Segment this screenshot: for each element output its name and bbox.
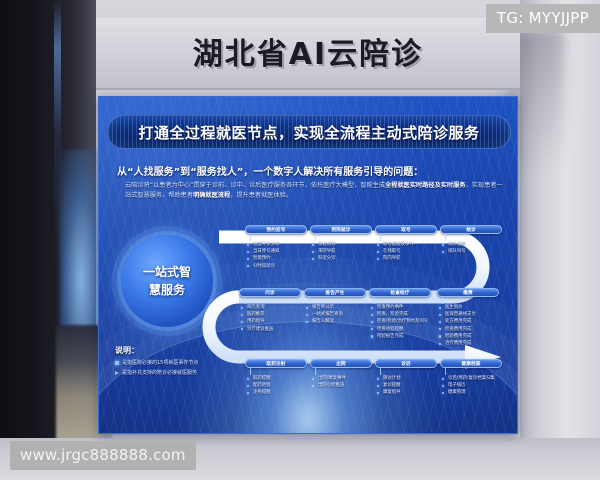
flow-node-chip: 预约挂号 bbox=[245, 225, 307, 234]
flow-node-items: 报告单公示 一站式报告查询 报告入解读 bbox=[306, 304, 366, 326]
flow-node-stem bbox=[250, 234, 251, 241]
flow-item: 检查进程提醒 bbox=[371, 326, 431, 333]
flow-node-chip: 诊后 bbox=[375, 359, 437, 368]
flow-node-stem bbox=[315, 234, 316, 241]
flow-node-row1-2: 取号 取号提醒及事件 在线取号 院内导航 bbox=[375, 225, 437, 263]
flow-item: 报告单公示 bbox=[306, 304, 366, 311]
flow-item: 患者报到 bbox=[312, 241, 372, 248]
flow-item: 处方费用完成 bbox=[439, 318, 499, 325]
flow-item: 复诊提醒 bbox=[377, 382, 437, 389]
flow-item: 一站式报告查询 bbox=[306, 311, 366, 318]
flow-node-row3-0: 取药注射 取药提醒 配药进程 注射提醒 bbox=[245, 359, 307, 397]
flow-node-chip: 到院就诊 bbox=[310, 225, 372, 234]
flow-node-stem bbox=[374, 297, 375, 304]
flow-node-stem bbox=[445, 368, 446, 375]
flow-node-items: 随访计划 复诊提醒 康复指导 bbox=[377, 375, 437, 397]
flow-item: 病历查询 bbox=[241, 304, 301, 311]
flow-node-row3-3: 健康档案 诊后/用药/复诊档案归集 电子病历 健康管理 bbox=[440, 359, 502, 397]
flow-item: 配药进程 bbox=[247, 382, 307, 389]
flow-node-items: 检查预约事件 检查、检验完成 检查/检验/治疗预约及叫号 检查进程提醒 检验报告… bbox=[371, 304, 431, 340]
flow-item: 检查/检验/治疗预约及叫号 bbox=[371, 318, 431, 325]
flow-item: 智慧导诊分诊 bbox=[247, 241, 307, 248]
flow-node-row3-2: 诊后 随访计划 复诊提醒 康复指导 bbox=[375, 359, 437, 397]
intro-body-part-1: 云陪诊将“以患者为中心”贯穿于诊前、诊中、诊后医疗服务各环节，依托医疗大模型，智… bbox=[125, 182, 385, 189]
flow-node-stem bbox=[442, 297, 443, 304]
flow-item: 医药推荐 bbox=[241, 311, 301, 318]
flow-node-row1-1: 到院就诊 患者报到 来院导航 科室分诊 bbox=[310, 225, 372, 263]
flow-item: 康复指导 bbox=[377, 389, 437, 396]
flow-node-chip: 候诊 bbox=[440, 225, 502, 234]
flow-node-chip: 缴费 bbox=[437, 288, 499, 297]
flow-item: 院内导航 bbox=[377, 255, 437, 262]
flow-item: 科室分诊 bbox=[312, 255, 372, 262]
flow-node-chip: 问诊 bbox=[239, 288, 301, 297]
led-poster-screen: 打通全过程就医节点，实现全流程主动式陪诊服务 从“人找服务”到“服务找人”，一个… bbox=[98, 96, 518, 434]
site-url-watermark: www.jrgc888888.com bbox=[10, 441, 196, 470]
flow-node-stem bbox=[244, 297, 245, 304]
flow-node-stem bbox=[380, 368, 381, 375]
flow-item: 取号提醒及事件 bbox=[377, 241, 437, 248]
badge-line-2: 慧服务 bbox=[149, 281, 185, 299]
booth-signage-band: 湖北省AI云陪诊 bbox=[96, 18, 520, 90]
flow-item: 当日停号通知 bbox=[247, 248, 307, 255]
poster-notes-block: 说明： 是指医院必接的15项就医事件节点 是指补充支持的陪诊必接就医服务 bbox=[115, 345, 247, 380]
flow-item: 排队叫号 bbox=[442, 248, 502, 255]
flow-item: 候诊提醒 bbox=[442, 241, 502, 248]
flow-node-stem bbox=[315, 368, 316, 375]
flow-item: 医保普通线支付 bbox=[439, 311, 499, 318]
flow-item: 出院/康复事件 bbox=[312, 375, 372, 382]
flow-node-row2-0: 问诊 病历查询 医药推荐 用药指导 诊疗建议推送 bbox=[239, 288, 301, 333]
notes-title: 说明： bbox=[115, 345, 247, 356]
flow-node-chip: 出院 bbox=[310, 359, 372, 368]
flow-item: 诊后/用药/复诊档案归集 bbox=[442, 375, 502, 382]
intro-body-part-3: ，提升患者就医体验。 bbox=[230, 192, 292, 199]
flow-node-row3-1: 出院 出院/康复事件 出院小结推送 bbox=[310, 359, 372, 389]
flow-node-chip: 报告产生 bbox=[304, 288, 366, 297]
flow-node-row1-3: 候诊 候诊提醒 排队叫号 bbox=[440, 225, 502, 255]
flow-item: 分时段就诊 bbox=[247, 263, 307, 270]
flow-item: 检验费用完成 bbox=[439, 333, 499, 340]
flow-node-items: 患者报到 来院导航 科室分诊 bbox=[312, 241, 372, 263]
flow-node-items: 取药提醒 配药进程 注射提醒 bbox=[247, 375, 307, 397]
flow-node-items: 智慧导诊分诊 当日停号通知 智能预约 分时段就诊 bbox=[247, 241, 307, 270]
flow-item: 检查预约事件 bbox=[371, 304, 431, 311]
poster-header-title: 打通全过程就医节点，实现全流程主动式陪诊服务 bbox=[108, 116, 510, 148]
intro-body-highlight-2: 明确就医流程 bbox=[193, 192, 230, 199]
note-item: 是指补充支持的陪诊必接就医服务 bbox=[115, 370, 247, 377]
poster-intro-lead: 从“人找服务”到“服务找人”，一个数字人解决所有服务引导的问题： bbox=[117, 163, 507, 178]
flow-node-stem bbox=[250, 368, 251, 375]
badge-line-1: 一站式智 bbox=[143, 263, 191, 281]
flow-item: 检查费用完成 bbox=[439, 326, 499, 333]
flow-node-items: 病历查询 医药推荐 用药指导 诊疗建议推送 bbox=[241, 304, 301, 333]
flow-node-chip: 取号 bbox=[375, 225, 437, 234]
flow-item: 报告入解读 bbox=[306, 318, 366, 325]
flow-node-chip: 取药注射 bbox=[245, 359, 307, 368]
flow-node-stem bbox=[445, 234, 446, 241]
flow-node-row2-2: 检查检疗 检查预约事件 检查、检验完成 检查/检验/治疗预约及叫号 检查进程提醒… bbox=[369, 288, 431, 340]
flow-node-items: 诊后/用药/复诊档案归集 电子病历 健康管理 bbox=[442, 375, 502, 397]
flow-item: 医生划价 bbox=[439, 304, 499, 311]
note-text: 是指补充支持的陪诊必接就医服务 bbox=[122, 370, 197, 377]
screenshot-root: 湖北省AI云陪诊 打通全过程就医节点，实现全流程主动式陪诊服务 从“人找服务”到… bbox=[0, 0, 600, 480]
square-marker-icon bbox=[115, 361, 119, 365]
flow-node-chip: 检查检疗 bbox=[369, 288, 431, 297]
flow-item: 诊疗建议推送 bbox=[241, 326, 301, 333]
flow-item: 出院小结推送 bbox=[312, 382, 372, 389]
flow-node-items: 医生划价 医保普通线支付 处方费用完成 检查费用完成 检验费用完成 治疗费用完成 bbox=[439, 304, 499, 347]
poster-intro-body: 云陪诊将“以患者为中心”贯穿于诊前、诊中、诊后医疗服务各环节，依托医疗大模型，智… bbox=[125, 181, 507, 201]
flow-node-chip: 健康档案 bbox=[440, 359, 502, 368]
flow-node-row1-0: 预约挂号 智慧导诊分诊 当日停号通知 智能预约 分时段就诊 bbox=[245, 225, 307, 270]
flow-node-stem bbox=[380, 234, 381, 241]
flow-node-row2-1: 报告产生 报告单公示 一站式报告查询 报告入解读 bbox=[304, 288, 366, 326]
flow-node-row2-3: 缴费 医生划价 医保普通线支付 处方费用完成 检查费用完成 检验费用完成 治疗费… bbox=[437, 288, 499, 347]
flow-node-items: 候诊提醒 排队叫号 bbox=[442, 241, 502, 255]
intro-body-highlight-1: 全程就医实时路径及实时服务 bbox=[385, 182, 465, 189]
flow-node-items: 取号提醒及事件 在线取号 院内导航 bbox=[377, 241, 437, 263]
flow-node-stem bbox=[309, 297, 310, 304]
flow-item: 在线取号 bbox=[377, 248, 437, 255]
flow-item: 取药提醒 bbox=[247, 375, 307, 382]
flow-item: 检查、检验完成 bbox=[371, 311, 431, 318]
one-stop-service-badge: 一站式智 慧服务 bbox=[121, 235, 213, 327]
flow-item: 来院导航 bbox=[312, 248, 372, 255]
booth-sign-title: 湖北省AI云陪诊 bbox=[96, 29, 520, 73]
note-text: 是指医院必接的15项就医事件节点 bbox=[122, 360, 198, 367]
flow-node-items: 出院/康复事件 出院小结推送 bbox=[312, 375, 372, 389]
flow-item: 电子病历 bbox=[442, 382, 502, 389]
poster-header-ribbon: 打通全过程就医节点，实现全流程主动式陪诊服务 bbox=[107, 115, 511, 149]
flow-item: 注射提醒 bbox=[247, 389, 307, 396]
flow-item: 用药指导 bbox=[241, 318, 301, 325]
triangle-marker-icon bbox=[115, 371, 119, 375]
flow-item: 检验报告完成 bbox=[371, 333, 431, 340]
flow-item: 健康管理 bbox=[442, 389, 502, 396]
telegram-tag-watermark: TG: MYYJJPP bbox=[486, 4, 600, 33]
flow-item: 治疗费用完成 bbox=[439, 340, 499, 347]
flow-item: 随访计划 bbox=[377, 375, 437, 382]
note-item: 是指医院必接的15项就医事件节点 bbox=[115, 360, 247, 367]
flow-item: 智能预约 bbox=[247, 255, 307, 262]
